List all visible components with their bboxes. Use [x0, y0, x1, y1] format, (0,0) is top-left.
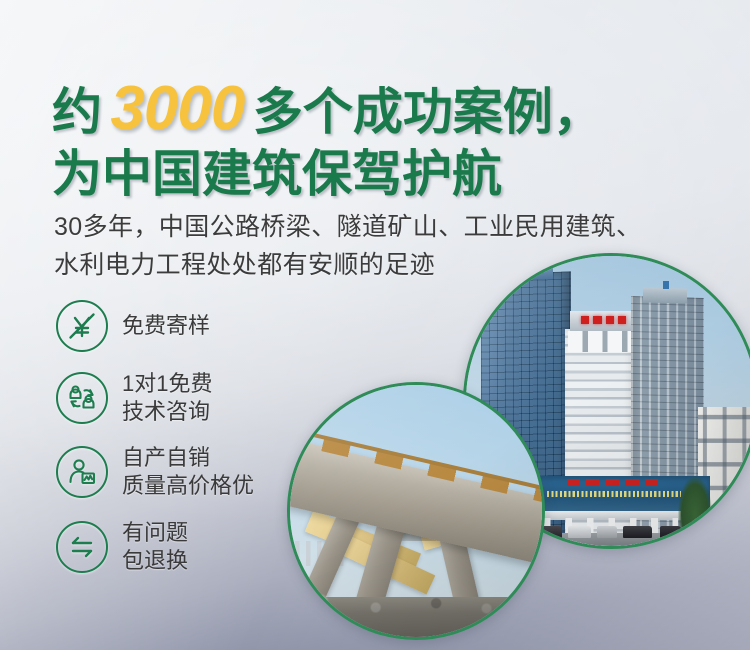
subtitle-line-1: 30多年，中国公路桥梁、隧道矿山、工业民用建筑、	[54, 208, 724, 246]
headline-line-2: 为中国建筑保驾护航	[52, 149, 712, 207]
street-tree	[678, 476, 713, 540]
feature-label-line-1: 1对1免费	[122, 371, 212, 396]
feature-label: 有问题 包退换	[122, 519, 188, 575]
feature-label: 自产自销 质量高价格优	[122, 444, 254, 500]
feature-label-line-2: 质量高价格优	[122, 472, 254, 500]
feature-label-line-1: 自产自销	[122, 445, 210, 470]
rooftop-red-signage	[579, 315, 628, 325]
podium-latin-signage	[547, 491, 680, 497]
feature-label: 1对1免费 技术咨询	[122, 370, 212, 426]
parked-car	[597, 526, 617, 538]
feature-label-line-2: 技术咨询	[122, 398, 212, 426]
promo-poster: 约 3000 多个成功案例， 为中国建筑保驾护航 30多年，中国公路桥梁、隧道矿…	[0, 0, 750, 650]
ground-rubble	[290, 592, 542, 617]
right-tower-mast	[663, 281, 669, 290]
no-yuan-icon	[56, 300, 108, 352]
headline-prefix: 约	[52, 84, 102, 140]
parked-car	[623, 526, 652, 538]
podium-red-signage	[547, 478, 678, 488]
left-tower-mast	[523, 258, 529, 267]
feature-item-self-production: 自产自销 质量高价格优	[56, 444, 346, 500]
feature-label-line-2: 包退换	[122, 547, 188, 575]
feature-label-line-1: 免费寄样	[122, 313, 210, 338]
headline: 约 3000 多个成功案例， 为中国建筑保驾护航	[52, 78, 712, 207]
headline-case-count: 3000	[106, 74, 248, 143]
parked-car	[660, 526, 680, 538]
feature-item-returns: 有问题 包退换	[56, 519, 346, 575]
person-chart-icon	[56, 446, 108, 498]
headline-slogan: 为中国建筑保驾护航	[52, 146, 502, 202]
headline-suffix: 多个成功案例，	[253, 84, 603, 140]
two-people-exchange-icon	[56, 372, 108, 424]
feature-item-consulting: 1对1免费 技术咨询	[56, 370, 346, 426]
feature-list: 免费寄样	[56, 300, 346, 593]
headline-line-1: 约 3000 多个成功案例，	[52, 78, 712, 140]
feature-item-free-sample: 免费寄样	[56, 300, 346, 352]
parked-car	[568, 526, 591, 538]
feature-label: 免费寄样	[122, 312, 210, 340]
right-tower-cap	[643, 287, 687, 303]
center-colonnade	[568, 331, 635, 351]
feature-label-line-1: 有问题	[122, 520, 188, 545]
return-exchange-arrows-icon	[56, 521, 108, 573]
